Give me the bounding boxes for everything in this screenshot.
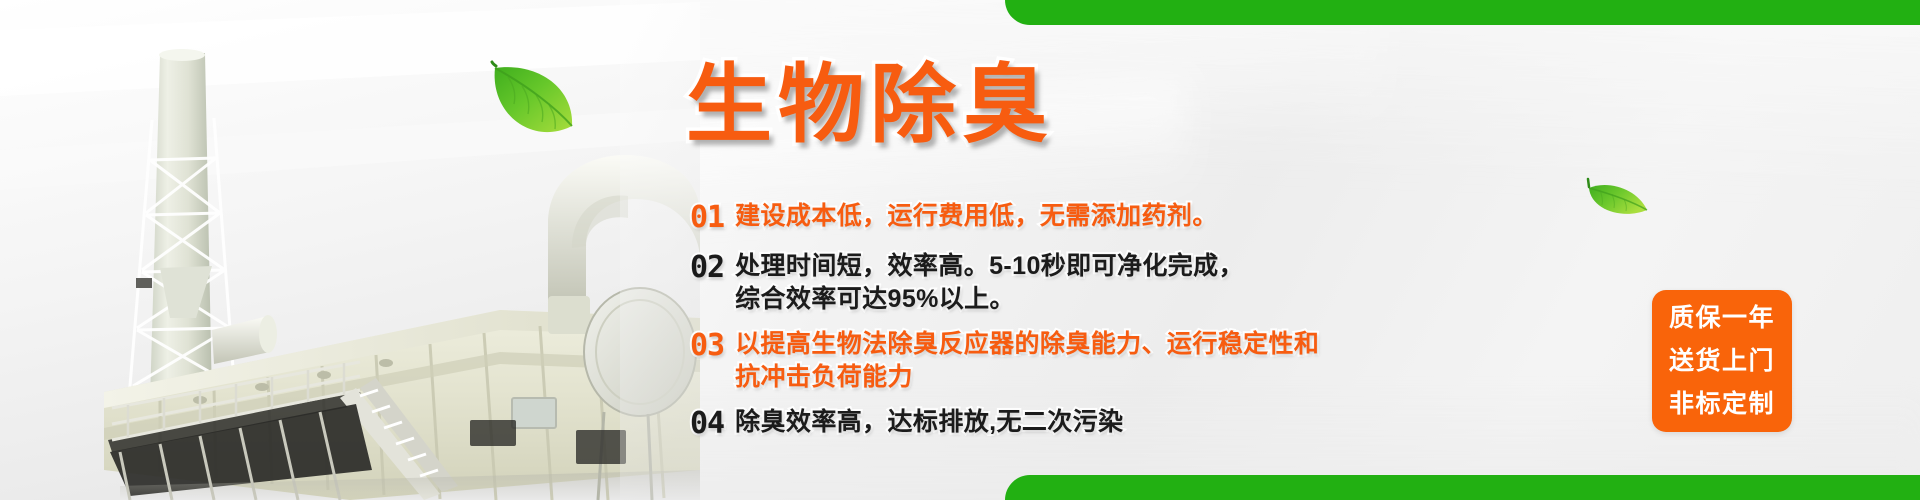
feature-item-04: 04 除臭效率高，达标排放,无二次污染 <box>690 406 1570 442</box>
green-bar-top <box>1005 0 1920 25</box>
badge-line-delivery: 送货上门 <box>1669 340 1775 383</box>
feature-text: 以提高生物法除臭反应器的除臭能力、运行稳定性和 抗冲击负荷能力 <box>735 328 1570 394</box>
feature-number: 03 <box>690 328 724 364</box>
promo-banner: 生物除臭 01 建设成本低，运行费用低，无需添加药剂。 02 处理时间短，效率高… <box>0 0 1920 500</box>
leaf-icon <box>480 60 580 170</box>
feature-number: 01 <box>690 200 724 236</box>
feature-line: 抗冲击负荷能力 <box>735 361 1570 394</box>
equipment-photo <box>0 0 700 500</box>
feature-text: 处理时间短，效率高。5-10秒即可净化完成， 综合效率可达95%以上。 <box>735 250 1570 316</box>
feature-line: 以提高生物法除臭反应器的除臭能力、运行稳定性和 <box>735 328 1570 361</box>
feature-number: 04 <box>690 406 724 442</box>
feature-list: 01 建设成本低，运行费用低，无需添加药剂。 02 处理时间短，效率高。5-10… <box>690 200 1570 453</box>
feature-line: 综合效率可达95%以上。 <box>735 283 1570 316</box>
feature-item-01: 01 建设成本低，运行费用低，无需添加药剂。 <box>690 200 1570 236</box>
feature-number: 02 <box>690 250 724 286</box>
service-badge: 质保一年 送货上门 非标定制 <box>1652 290 1792 432</box>
feature-text: 除臭效率高，达标排放,无二次污染 <box>735 406 1570 439</box>
badge-line-warranty: 质保一年 <box>1669 297 1775 340</box>
feature-line: 建设成本低，运行费用低，无需添加药剂。 <box>735 200 1570 233</box>
feature-text: 建设成本低，运行费用低，无需添加药剂。 <box>735 200 1570 233</box>
leaf-icon <box>1583 176 1651 220</box>
feature-item-02: 02 处理时间短，效率高。5-10秒即可净化完成， 综合效率可达95%以上。 <box>690 250 1570 316</box>
green-bar-bottom <box>1005 475 1920 500</box>
badge-line-custom: 非标定制 <box>1669 383 1775 426</box>
feature-line: 处理时间短，效率高。5-10秒即可净化完成， <box>735 250 1570 283</box>
feature-line: 除臭效率高，达标排放,无二次污染 <box>735 406 1570 439</box>
feature-item-03: 03 以提高生物法除臭反应器的除臭能力、运行稳定性和 抗冲击负荷能力 <box>690 328 1570 394</box>
page-title: 生物除臭 <box>686 62 1054 148</box>
